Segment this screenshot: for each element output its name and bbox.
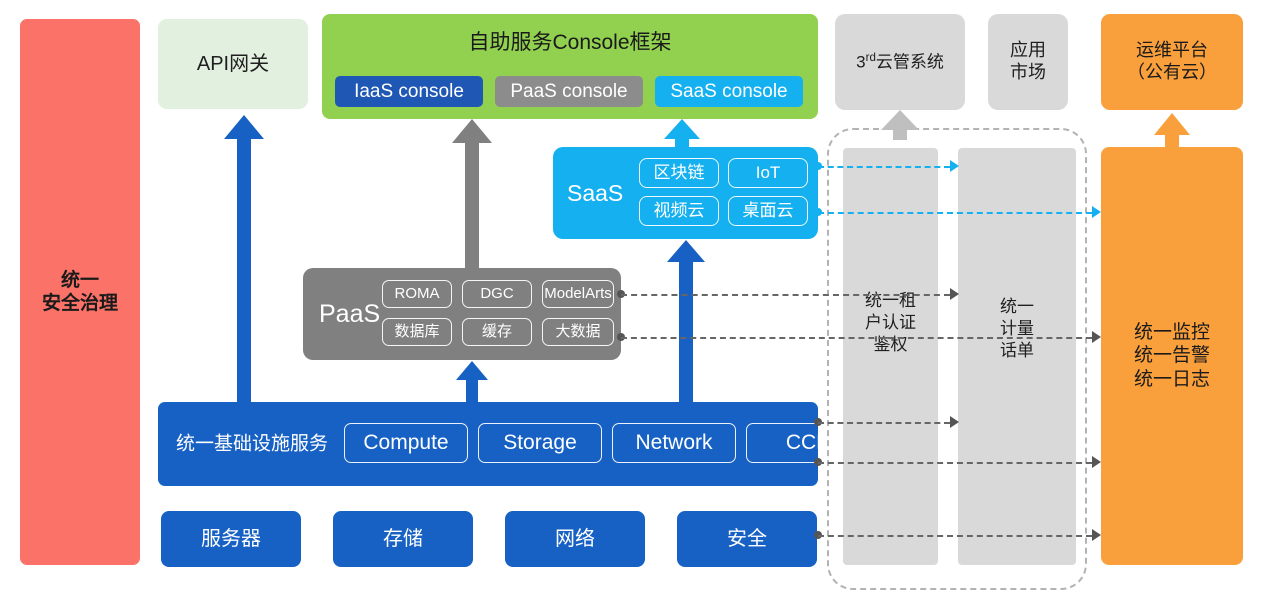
infrastructure-label: 统一基础设施服务	[176, 432, 328, 455]
unified-auth-column[interactable]: 统一租 户认证 鉴权	[843, 148, 938, 565]
hardware-box-security[interactable]: 安全	[677, 511, 817, 567]
arrow-saas-to-console	[662, 119, 702, 148]
connector-arrowhead-infra-ops	[1092, 456, 1101, 468]
security-label-line1: 统一	[61, 269, 99, 292]
connector-paas-to-ops	[621, 337, 1092, 339]
ops-platform-box[interactable]: 运维平台 （公有云）	[1101, 14, 1243, 110]
ops-platform-line2: （公有云）	[1127, 62, 1217, 84]
third-party-label: 3rd云管系统	[856, 51, 944, 73]
saas-block[interactable]: SaaS 区块链 IoT 视频云 桌面云	[553, 147, 818, 239]
unified-security-panel[interactable]: 统一 安全治理	[20, 19, 140, 565]
connector-infra-to-ops	[818, 462, 1092, 464]
third-party-cloud-box[interactable]: 3rd云管系统	[835, 14, 965, 110]
arrow-shared-to-third-party	[880, 110, 920, 140]
connector-paas-to-auth	[621, 294, 950, 296]
console-framework-panel[interactable]: 自助服务Console框架 IaaS console PaaS console …	[322, 14, 818, 119]
app-market-box[interactable]: 应用 市场	[988, 14, 1068, 110]
api-gateway-label: API网关	[197, 52, 269, 76]
infra-chip-compute[interactable]: Compute	[344, 423, 468, 463]
paas-chip-roma[interactable]: ROMA	[382, 280, 452, 308]
ops-platform-line1: 运维平台	[1136, 40, 1208, 62]
paas-chip-database[interactable]: 数据库	[382, 318, 452, 346]
paas-console-chip[interactable]: PaaS console	[495, 76, 643, 107]
saas-chip-iot[interactable]: IoT	[728, 158, 808, 188]
unified-infrastructure-bar[interactable]: 统一基础设施服务 Compute Storage Network CCE	[158, 402, 818, 486]
connector-infra-to-metering	[818, 422, 950, 424]
connector-arrowhead-infra-metering	[950, 416, 959, 428]
connector-arrowhead-paas-ops	[1092, 331, 1101, 343]
ops-detail-panel[interactable]: 统一监控 统一告警 统一日志	[1101, 147, 1243, 565]
saas-chip-desktop-cloud[interactable]: 桌面云	[728, 196, 808, 226]
unified-metering-label: 统一 计量 话单	[958, 296, 1076, 361]
saas-chip-video-cloud[interactable]: 视频云	[639, 196, 719, 226]
app-market-line2: 市场	[1010, 62, 1046, 84]
connector-arrowhead-saas-auth	[950, 160, 959, 172]
paas-chip-cache[interactable]: 缓存	[462, 318, 532, 346]
unified-auth-label: 统一租 户认证 鉴权	[843, 290, 938, 355]
hardware-box-server[interactable]: 服务器	[161, 511, 301, 567]
saas-label: SaaS	[567, 179, 623, 207]
console-framework-title: 自助服务Console框架	[322, 30, 818, 56]
arrow-infra-to-paas	[455, 361, 489, 403]
saas-console-chip[interactable]: SaaS console	[655, 76, 803, 107]
connector-arrowhead-saas-ops	[1092, 206, 1101, 218]
infra-chip-storage[interactable]: Storage	[478, 423, 602, 463]
paas-chip-dgc[interactable]: DGC	[462, 280, 532, 308]
paas-label: PaaS	[319, 299, 380, 330]
ops-detail-line2: 统一告警	[1134, 344, 1210, 367]
paas-chip-modelarts[interactable]: ModelArts	[542, 280, 614, 308]
hardware-box-storage[interactable]: 存储	[333, 511, 473, 567]
paas-block[interactable]: PaaS ROMA DGC ModelArts 数据库 缓存 大数据	[303, 268, 621, 360]
architecture-diagram: 统一 安全治理 API网关 自助服务Console框架 IaaS console…	[0, 0, 1265, 605]
infra-chip-network[interactable]: Network	[612, 423, 736, 463]
hardware-box-network[interactable]: 网络	[505, 511, 645, 567]
connector-arrowhead-hardware-ops	[1092, 529, 1101, 541]
arrow-infra-to-api-gateway	[224, 115, 264, 403]
saas-chip-blockchain[interactable]: 区块链	[639, 158, 719, 188]
arrow-ops-detail-to-ops-platform	[1152, 113, 1192, 147]
unified-metering-column[interactable]: 统一 计量 话单	[958, 148, 1076, 565]
arrow-infra-to-saas	[666, 240, 706, 403]
security-label-line2: 安全治理	[42, 292, 118, 315]
connector-saas-to-auth	[818, 166, 950, 168]
connector-hardware-to-ops	[818, 535, 1092, 537]
app-market-line1: 应用	[1010, 40, 1046, 62]
api-gateway-box[interactable]: API网关	[158, 19, 308, 109]
connector-arrowhead-paas-auth	[950, 288, 959, 300]
paas-chip-bigdata[interactable]: 大数据	[542, 318, 614, 346]
ops-detail-line3: 统一日志	[1134, 368, 1210, 391]
connector-saas-to-ops	[818, 212, 1092, 214]
iaas-console-chip[interactable]: IaaS console	[335, 76, 483, 107]
ops-detail-line1: 统一监控	[1134, 321, 1210, 344]
arrow-paas-to-console	[452, 119, 492, 269]
